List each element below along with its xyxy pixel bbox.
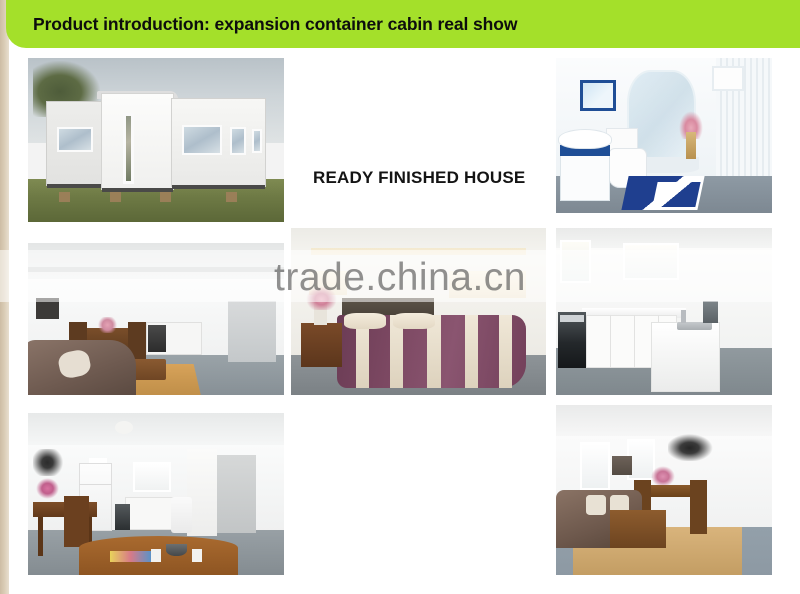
doorway xyxy=(217,455,255,533)
stove xyxy=(115,504,130,530)
photo-bathroom-with-corner-shower[interactable] xyxy=(556,58,772,213)
ceiling xyxy=(28,243,284,283)
slide-canvas: Product introduction: expansion containe… xyxy=(0,0,800,594)
flowers xyxy=(651,466,675,486)
cushion xyxy=(586,495,605,515)
window xyxy=(560,240,590,283)
pillow xyxy=(393,313,435,329)
floor-lamp xyxy=(612,456,631,475)
bathroom-doorway xyxy=(228,301,277,362)
wall-picture xyxy=(580,80,617,111)
pier xyxy=(226,192,237,201)
skirt xyxy=(47,184,104,188)
quilt-stripe xyxy=(499,315,512,388)
title-banner: Product introduction: expansion containe… xyxy=(6,0,800,48)
bath-mat xyxy=(653,182,701,207)
window xyxy=(252,129,262,153)
ceiling xyxy=(556,405,772,439)
page-title: Product introduction: expansion containe… xyxy=(33,14,517,35)
basin xyxy=(558,129,612,149)
wall-tree-decoration xyxy=(668,432,716,461)
pier xyxy=(160,192,171,201)
ceiling-beam xyxy=(28,267,284,272)
photo-kitchen-dining-area[interactable] xyxy=(28,413,284,575)
cabinet-divider xyxy=(634,315,635,368)
cup xyxy=(151,549,161,562)
magazine xyxy=(110,551,151,562)
cabin-right-wing xyxy=(171,98,266,187)
cabinet-divider xyxy=(610,315,611,368)
window xyxy=(712,66,744,91)
fridge-door-split xyxy=(79,484,112,485)
flowers xyxy=(306,286,337,309)
bowl xyxy=(166,544,186,555)
vase xyxy=(686,132,697,158)
appliance xyxy=(703,301,718,323)
window xyxy=(133,462,171,493)
photo-living-room-open-plan[interactable] xyxy=(28,243,284,395)
photo-living-room-with-sofa-and-dining[interactable] xyxy=(556,405,772,575)
window xyxy=(449,271,526,298)
bed xyxy=(337,315,526,388)
ceiling xyxy=(28,413,284,449)
photo-scene xyxy=(556,228,772,395)
bin xyxy=(171,497,191,533)
cabin-front xyxy=(101,93,174,191)
window xyxy=(580,442,610,490)
television xyxy=(36,298,59,319)
cabin-left-wing xyxy=(46,101,105,186)
tap xyxy=(681,310,685,323)
quilt-stripe xyxy=(465,315,478,388)
stove xyxy=(148,325,166,352)
kitchen-cabinets xyxy=(125,497,176,529)
ceiling-light xyxy=(115,421,133,434)
window xyxy=(623,243,679,280)
wall-decoration xyxy=(33,449,69,477)
nightstand xyxy=(301,323,342,366)
photo-kitchen-white-cabinets[interactable] xyxy=(556,228,772,395)
table-leg xyxy=(38,517,43,556)
photo-grid xyxy=(0,0,800,594)
photo-scene xyxy=(556,405,772,575)
window xyxy=(182,125,223,155)
pier xyxy=(59,192,70,201)
photo-exterior-expandable-container-house[interactable] xyxy=(28,58,284,222)
cabin-body xyxy=(46,91,266,193)
oven-control-panel xyxy=(560,315,584,322)
window xyxy=(230,127,246,155)
skirt xyxy=(172,185,265,189)
ready-finished-house-label: READY FINISHED HOUSE xyxy=(313,168,525,188)
flowers xyxy=(36,478,59,499)
photo-scene xyxy=(28,243,284,395)
pier xyxy=(110,192,121,201)
pillow xyxy=(344,313,386,329)
flowers xyxy=(97,317,117,332)
dining-chair xyxy=(64,496,90,548)
cup xyxy=(192,549,202,562)
photo-scene xyxy=(556,58,772,213)
photo-bedroom-double-bed[interactable] xyxy=(291,228,546,395)
dining-chair xyxy=(690,480,707,534)
sliding-door xyxy=(123,113,134,184)
photo-scene xyxy=(28,413,284,575)
window xyxy=(57,127,93,152)
photo-scene xyxy=(291,228,546,395)
island-bench xyxy=(651,322,720,392)
photo-scene xyxy=(28,58,284,222)
coffee-table xyxy=(610,510,666,547)
